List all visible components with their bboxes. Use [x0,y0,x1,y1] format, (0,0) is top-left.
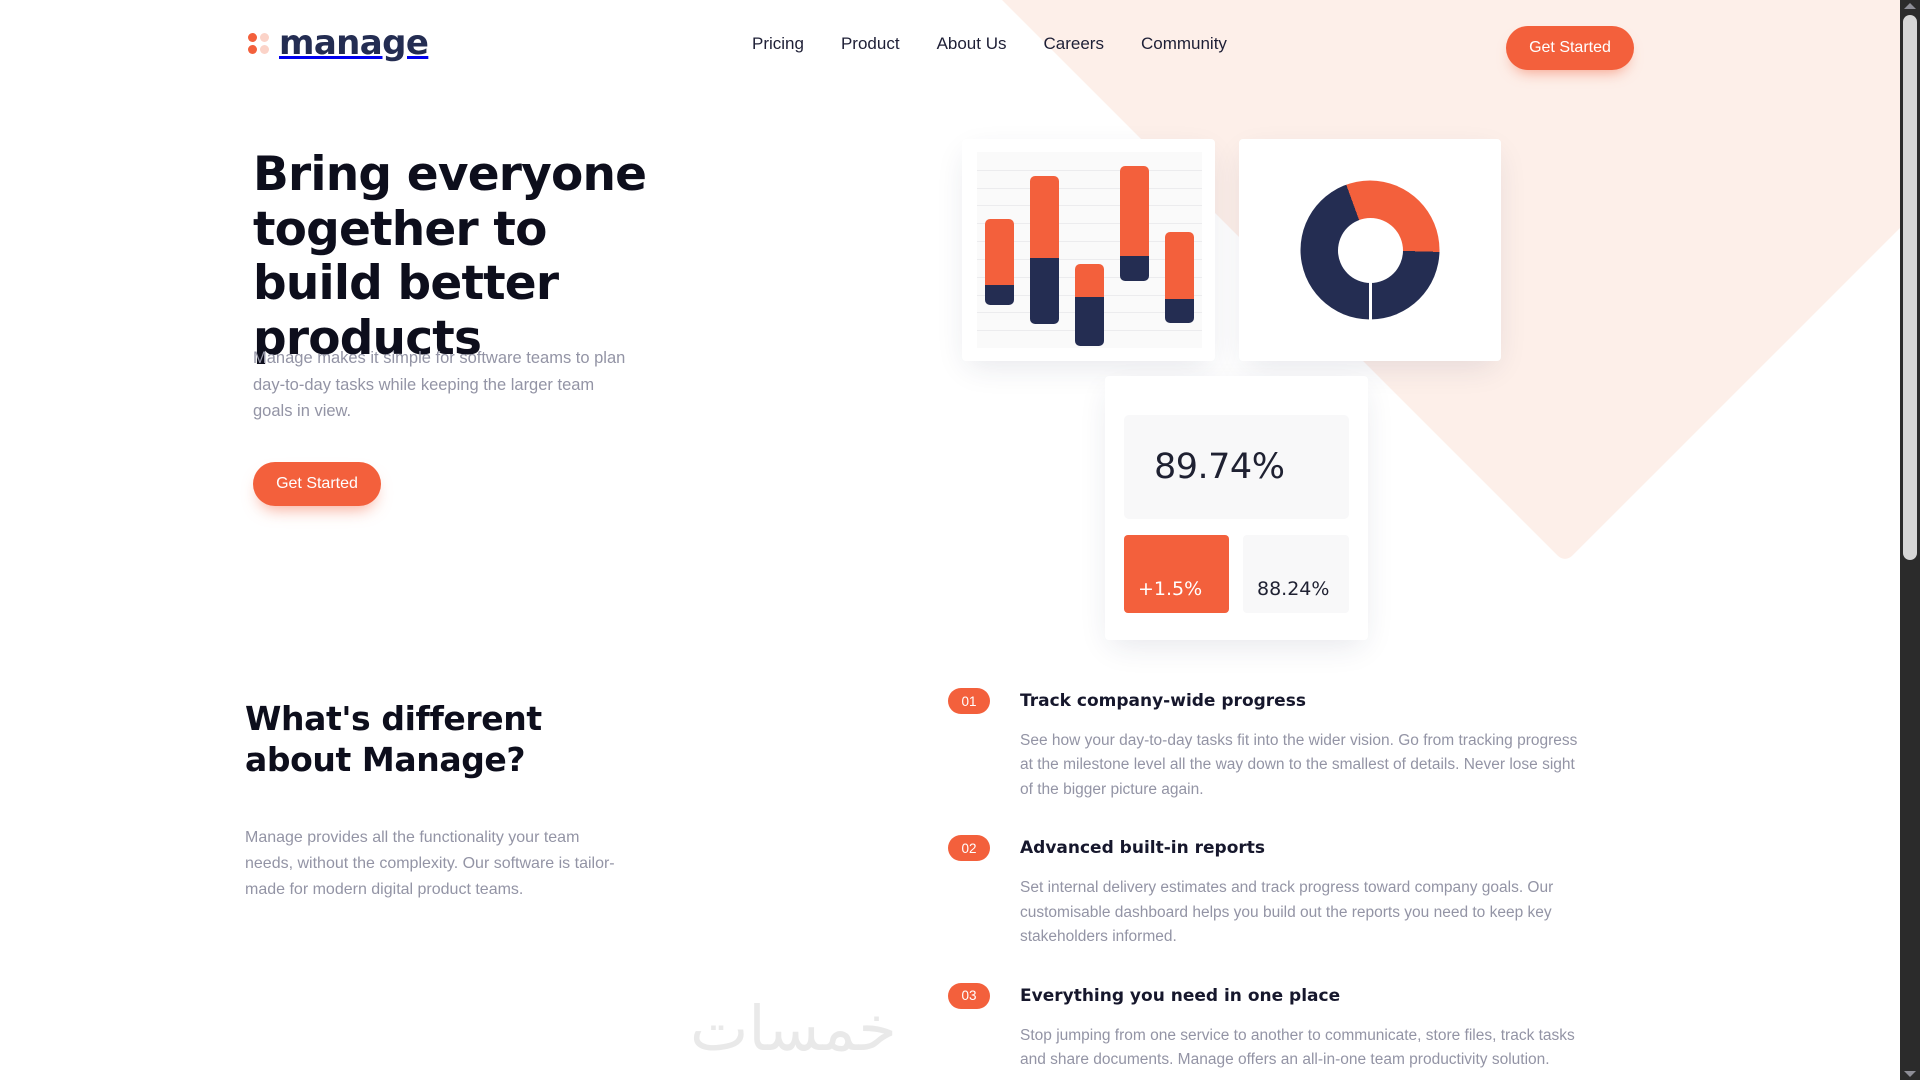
bar-chart-bars [977,152,1202,348]
features-subtitle: Manage provides all the functionality yo… [245,825,625,903]
feature-number-badge: 02 [948,835,990,861]
bar-chart-card [962,139,1215,361]
four-dots-icon [248,33,269,54]
features-heading: What's different about Manage? [245,698,645,781]
nav-item-about-us[interactable]: About Us [937,34,1007,54]
bar-chart-bar [985,219,1014,305]
feature-number-badge: 01 [948,688,990,714]
bar-chart-bar [1075,264,1104,346]
site-watermark: خمسات [690,992,897,1065]
feature-description: Set internal delivery estimates and trac… [1020,876,1590,949]
nav-item-community[interactable]: Community [1141,34,1227,54]
donut-chart [1301,181,1440,320]
nav-item-product[interactable]: Product [841,34,900,54]
scrollbar-thumb[interactable] [1903,15,1917,560]
feature-title: Track company-wide progress [1020,688,1588,711]
stat-delta-value: +1.5% [1138,578,1202,600]
nav-item-careers[interactable]: Careers [1044,34,1104,54]
site-header: manage Pricing Product About Us Careers … [0,0,1900,92]
stat-secondary-tile: 88.24% [1243,535,1349,613]
feature-title: Everything you need in one place [1020,983,1588,1006]
scroll-up-arrow-icon[interactable] [1904,3,1916,11]
brand-name: manage [279,26,428,60]
stat-main-tile: 89.74% [1124,415,1349,519]
stat-main-value: 89.74% [1154,447,1284,487]
stats-card: 89.74% +1.5% 88.24% [1105,376,1368,640]
nav-item-pricing[interactable]: Pricing [752,34,804,54]
page-viewport: manage Pricing Product About Us Careers … [0,0,1900,1080]
hero-section: Bring everyone together to build better … [0,0,1900,660]
bar-chart-bar [1165,232,1194,322]
stat-delta-tile: +1.5% [1124,535,1229,613]
main-navigation: Pricing Product About Us Careers Communi… [752,34,1227,54]
feature-description: See how your day-to-day tasks fit into t… [1020,729,1590,802]
bar-chart-bar [1120,166,1149,282]
donut-chart-card [1239,139,1501,361]
features-section: What's different about Manage? Manage pr… [0,660,1900,1080]
feature-list: 01 Track company-wide progress See how y… [948,688,1588,1080]
scroll-down-arrow-icon[interactable] [1904,1069,1916,1077]
bar-chart-plot [977,152,1202,348]
hero-illustration: 89.74% +1.5% 88.24% [0,0,1900,660]
brand-logo[interactable]: manage [248,26,428,60]
bar-chart-bar [1030,176,1059,325]
feature-item-02: 02 Advanced built-in reports Set interna… [948,835,1588,949]
feature-title: Advanced built-in reports [1020,835,1588,858]
feature-description: Stop jumping from one service to another… [1020,1024,1590,1073]
donut-center-hole [1338,218,1403,283]
feature-number-badge: 03 [948,983,990,1009]
feature-item-01: 01 Track company-wide progress See how y… [948,688,1588,802]
vertical-scrollbar[interactable] [1900,0,1920,1080]
header-get-started-button[interactable]: Get Started [1506,26,1634,70]
feature-item-03: 03 Everything you need in one place Stop… [948,983,1588,1073]
stat-secondary-value: 88.24% [1257,578,1329,600]
